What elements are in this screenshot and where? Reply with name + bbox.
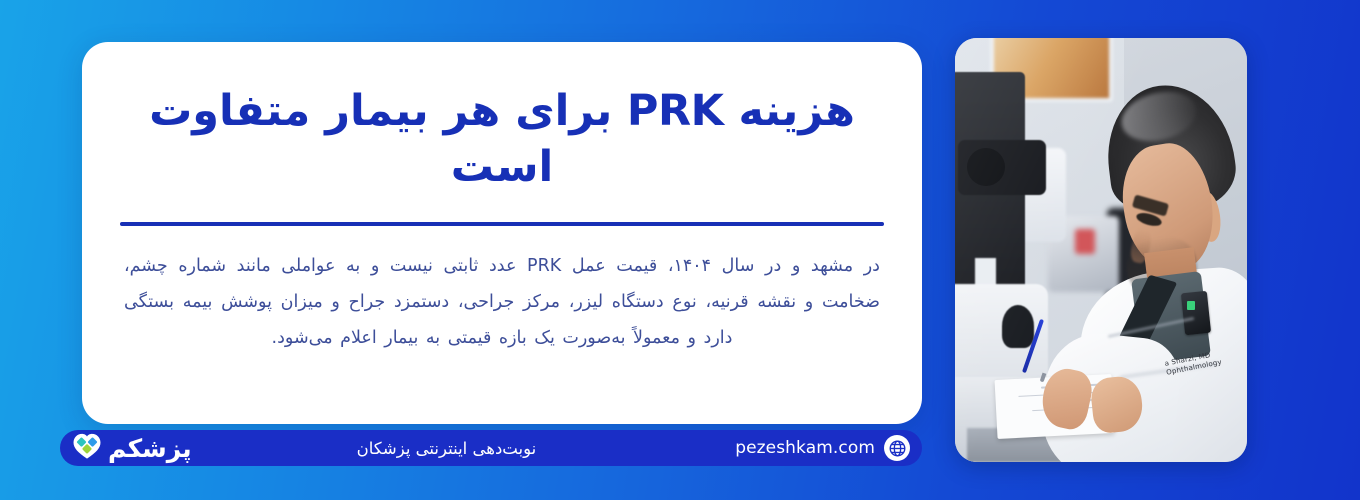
doctor-photo: a Sharzi, MD Ophthalmology [955, 38, 1247, 462]
site-url-label: pezeshkam.com [735, 438, 875, 458]
footer-bar: pezeshkam.com نوبت‌دهی اینترنتی پزشکان پ… [60, 430, 922, 466]
globe-icon [884, 435, 910, 461]
title-divider [120, 222, 884, 226]
body-paragraph: در مشهد و در سال ۱۴۰۴، قیمت عمل PRK عدد … [118, 248, 886, 356]
content-card: هزینه PRK برای هر بیمار متفاوت است در مش… [82, 42, 922, 424]
page-title: هزینه PRK برای هر بیمار متفاوت است [118, 84, 886, 196]
heart-diamond-icon [72, 432, 102, 464]
photo-illustration: a Sharzi, MD Ophthalmology [955, 38, 1247, 462]
site-link[interactable]: pezeshkam.com [735, 435, 910, 461]
brand-logo[interactable]: پزشکم [66, 432, 192, 464]
brand-name-label: پزشکم [108, 436, 192, 461]
footer-tagline: نوبت‌دهی اینترنتی پزشکان [192, 439, 736, 458]
